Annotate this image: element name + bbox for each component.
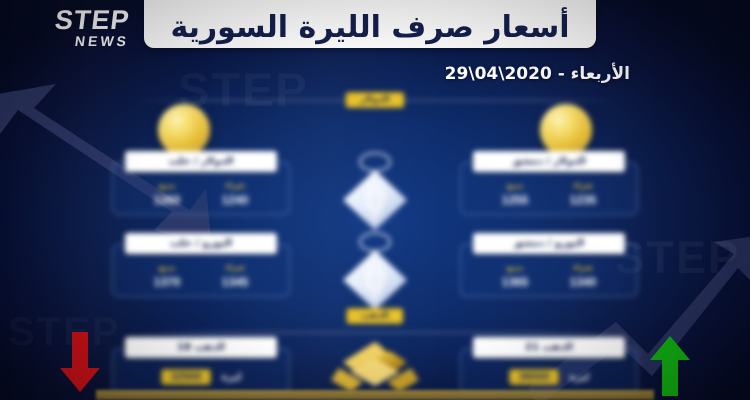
gold-coin-icon (540, 104, 592, 156)
rate-column: شراء 1240 (212, 181, 258, 207)
red-down-arrow-icon (58, 332, 102, 394)
section-divider (128, 100, 622, 101)
rate-card[interactable]: اليورو / حلب مبيع 1370 شراء 1345 (112, 244, 290, 297)
rate-card[interactable]: الدولار / حلب مبيع 1260 شراء 1240 (112, 162, 290, 215)
section-tag-dollar: الدولار (345, 92, 404, 108)
rate-card[interactable]: الدولار / دمشق مبيع 1255 شراء 1235 (460, 162, 638, 215)
large-zigzag-trend-arrow-icon (528, 236, 750, 400)
date-label: الأربعاء - 2020\04\29 (445, 64, 630, 84)
gold-rate-row: 32500 ليرة (113, 363, 289, 385)
gold-rate-row: 38000 ليرة (461, 363, 637, 385)
gold-unit-label: ليرة (569, 372, 589, 383)
logo-brand-text: STEP (54, 8, 132, 34)
diamond-emblem-icon (339, 150, 411, 232)
rate-column: شراء 1235 (560, 181, 606, 207)
page-title: أسعار صرف الليرة السورية (170, 11, 569, 44)
column-label: شراء (225, 263, 245, 272)
gold-bars-icon (329, 338, 421, 396)
rate-board: الدولار / دمشق مبيع 1255 شراء 1235 الدول… (100, 92, 650, 400)
gold-price-chip: 32500 (161, 369, 212, 385)
column-value: 1365 (502, 275, 529, 289)
rate-column: شراء 1340 (560, 263, 606, 289)
section-gold: الذهب 21 38000 ليرة الذهب 18 32500 ليرة (100, 320, 650, 400)
vignette-overlay (0, 0, 750, 400)
column-label: مبيع (507, 263, 524, 272)
gold-price-chip: 38000 (509, 369, 560, 385)
background-sheen (0, 0, 750, 400)
column-label: شراء (225, 181, 245, 190)
step-news-logo[interactable]: STEP NEWS (8, 2, 140, 54)
column-label: مبيع (507, 181, 524, 190)
rate-card[interactable]: الذهب 18 32500 ليرة (112, 348, 290, 395)
logo-sub-text: NEWS (74, 34, 130, 48)
rate-card-header: الدولار / دمشق (473, 151, 625, 172)
gold-coin-icon (158, 104, 210, 156)
section-euro: اليورو / دمشق مبيع 1365 شراء 1340 اليورو… (100, 226, 650, 322)
rate-card-header: الذهب 21 (473, 337, 625, 358)
column-value: 1240 (222, 193, 249, 207)
rate-column: مبيع 1255 (492, 181, 538, 207)
rate-card-columns: مبيع 1365 شراء 1340 (461, 259, 637, 289)
watermark-step-top: STEP (178, 62, 309, 117)
watermark-step-right: STEP (614, 232, 740, 284)
bottom-gold-strip (96, 390, 654, 400)
column-label: شراء (573, 263, 593, 272)
rate-card-header: اليورو / حلب (125, 233, 277, 254)
rate-column: مبيع 1365 (492, 263, 538, 289)
diamond-emblem-icon (339, 230, 411, 312)
column-value: 1340 (570, 275, 597, 289)
rate-card-header: الدولار / حلب (125, 151, 277, 172)
column-value: 1370 (154, 275, 181, 289)
rate-card-header: اليورو / دمشق (473, 233, 625, 254)
gold-unit-label: ليرة (221, 372, 241, 383)
rate-column: مبيع 1260 (144, 181, 190, 207)
column-label: شراء (573, 181, 593, 190)
rate-column: شراء 1345 (212, 263, 258, 289)
rate-card-columns: مبيع 1370 شراء 1345 (113, 259, 289, 289)
exchange-rate-graphic: STEP STEP STEP STEP NEWS أسعار صرف اللير… (0, 0, 750, 400)
title-plaque: أسعار صرف الليرة السورية (144, 0, 596, 48)
rate-card-columns: مبيع 1255 شراء 1235 (461, 177, 637, 207)
section-dollar: الدولار / دمشق مبيع 1255 شراء 1235 الدول… (100, 100, 650, 220)
rate-card[interactable]: اليورو / دمشق مبيع 1365 شراء 1340 (460, 244, 638, 297)
section-tag-gold: الذهب (346, 308, 403, 324)
rate-card[interactable]: الذهب 21 38000 ليرة (460, 348, 638, 395)
column-value: 1260 (154, 193, 181, 207)
column-value: 1235 (570, 193, 597, 207)
column-value: 1255 (502, 193, 529, 207)
green-up-arrow-icon (648, 334, 692, 396)
rate-column: مبيع 1370 (144, 263, 190, 289)
column-label: مبيع (159, 263, 176, 272)
rate-card-columns: مبيع 1260 شراء 1240 (113, 177, 289, 207)
rate-card-header: الذهب 18 (125, 337, 277, 358)
large-down-left-trend-arrow-icon (0, 52, 214, 252)
section-divider (128, 332, 622, 333)
column-value: 1345 (222, 275, 249, 289)
column-label: مبيع (159, 181, 176, 190)
